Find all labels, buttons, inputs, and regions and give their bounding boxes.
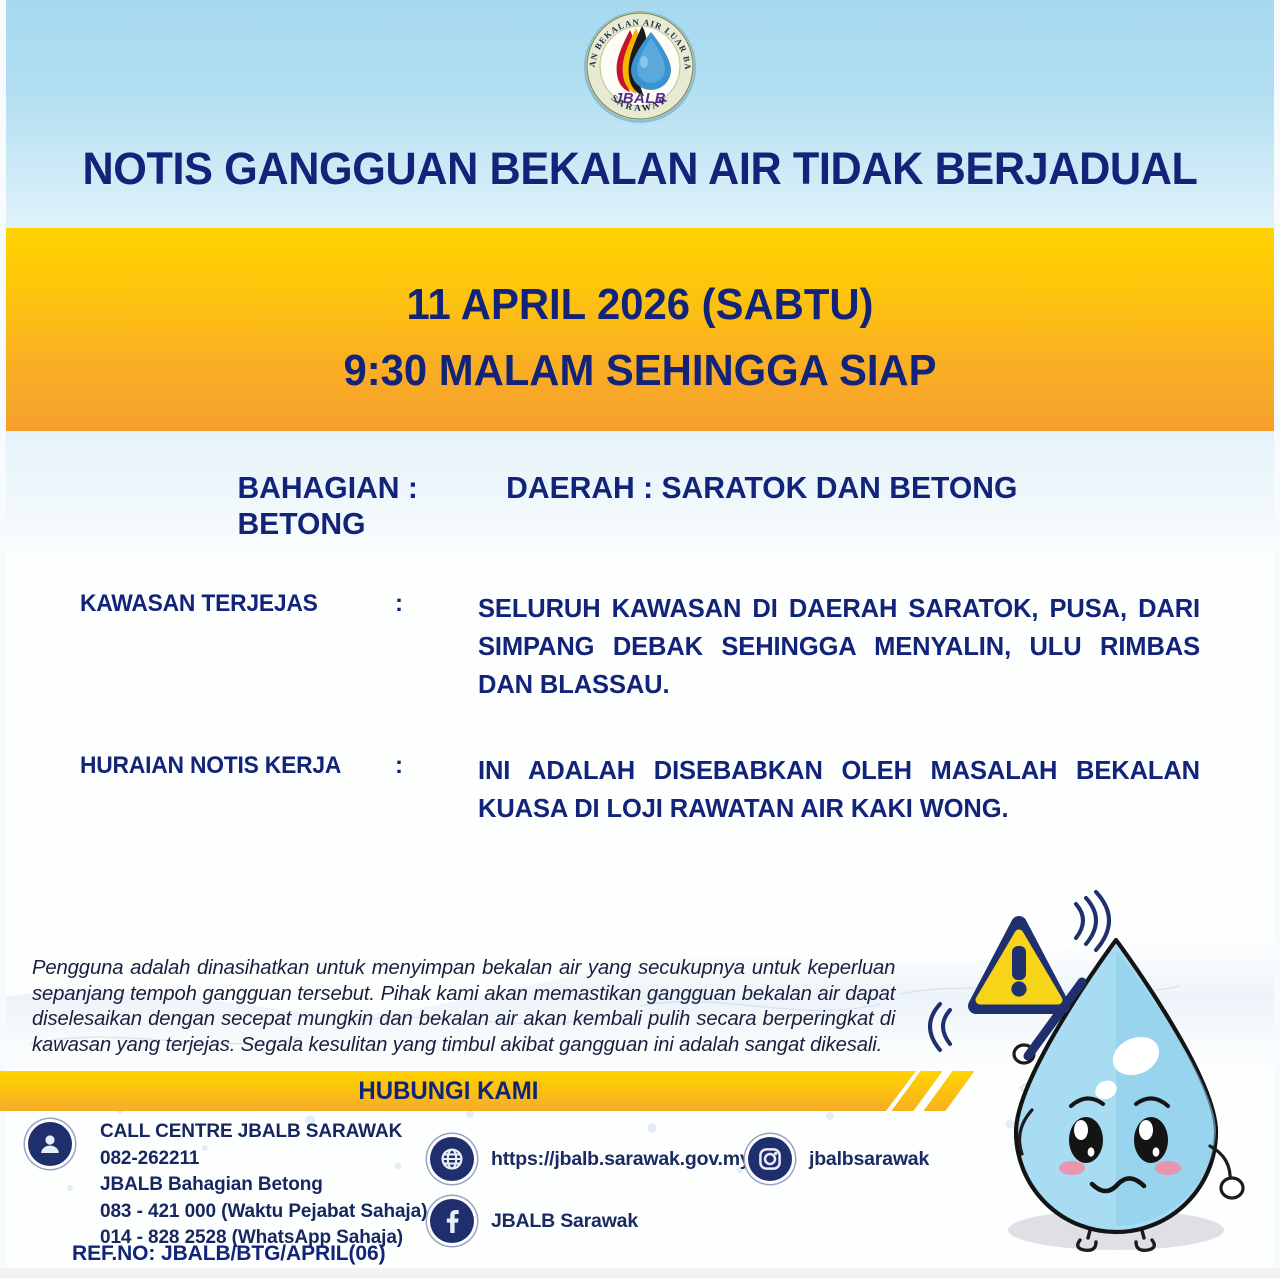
right-edge-margin [1274,0,1280,1268]
contact-banner-title: HUBUNGI KAMI [18,1071,897,1111]
instagram-icon[interactable] [748,1137,792,1181]
facebook-contact[interactable]: JBALB Sarawak [430,1199,638,1243]
poster-header: JABATAN BEKALAN AIR LUAR BANDAR SARAWAK … [6,0,1274,228]
branch-office-phone: 083 - 421 000 (Waktu Pejabat Sahaja) [100,1199,450,1226]
branch-name: JBALB Bahagian Betong [100,1172,450,1199]
website-contact[interactable]: https://jbalb.sarawak.gov.my/ [430,1137,756,1181]
work-description-colon: : [395,752,403,780]
page-title: NOTIS GANGGUAN BEKALAN AIR TIDAK BERJADU… [31,143,1248,195]
facebook-icon[interactable] [430,1199,474,1243]
bottom-strip [0,1268,1280,1278]
instagram-handle[interactable]: jbalbsarawak [809,1148,929,1171]
division-district-row: BAHAGIAN : BETONG DAERAH : SARATOK DAN B… [19,470,1261,542]
call-centre-lines: CALL CENTRE JBALB SARAWAK 082-262211 JBA… [100,1119,450,1252]
date-time-band: 11 APRIL 2026 (SABTU) 9:30 MALAM SEHINGG… [6,228,1274,431]
work-description-label: HURAIAN NOTIS KERJA [80,752,365,780]
instagram-contact[interactable]: jbalbsarawak [748,1137,929,1181]
call-centre-title: CALL CENTRE JBALB SARAWAK [100,1119,450,1146]
work-description-value: INI ADALAH DISEBABKAN OLEH MASALAH BEKAL… [478,752,1200,828]
notice-time: 9:30 MALAM SEHINGGA SIAP [38,346,1243,396]
svg-text:JBALB: JBALB [614,90,666,107]
contact-banner: HUBUNGI KAMI [0,1071,916,1111]
affected-area-colon: : [395,590,403,618]
facebook-handle[interactable]: JBALB Sarawak [491,1210,638,1233]
globe-icon[interactable] [430,1137,474,1181]
website-url[interactable]: https://jbalb.sarawak.gov.my/ [491,1148,756,1171]
water-droplet-mascot [920,878,1272,1270]
jbalb-logo: JABATAN BEKALAN AIR LUAR BANDAR SARAWAK … [581,4,699,126]
bahagian-label: BAHAGIAN : BETONG [97,470,504,542]
notice-poster: JABATAN BEKALAN AIR LUAR BANDAR SARAWAK … [0,0,1280,1278]
affected-area-label: KAWASAN TERJEJAS [80,590,365,618]
notice-date: 11 APRIL 2026 (SABTU) [38,280,1243,330]
daerah-label: DAERAH : SARATOK DAN BETONG [504,470,1183,506]
reference-number: REF.NO: JBALB/BTG/APRIL(06) [72,1242,385,1266]
call-centre-phone: 082-262211 [100,1146,450,1173]
person-icon [28,1122,72,1166]
advisory-paragraph: Pengguna adalah dinasihatkan untuk menyi… [32,955,895,1057]
affected-area-value: SELURUH KAWASAN DI DAERAH SARATOK, PUSA,… [478,590,1200,704]
call-centre-block: CALL CENTRE JBALB SARAWAK 082-262211 JBA… [28,1122,448,1166]
